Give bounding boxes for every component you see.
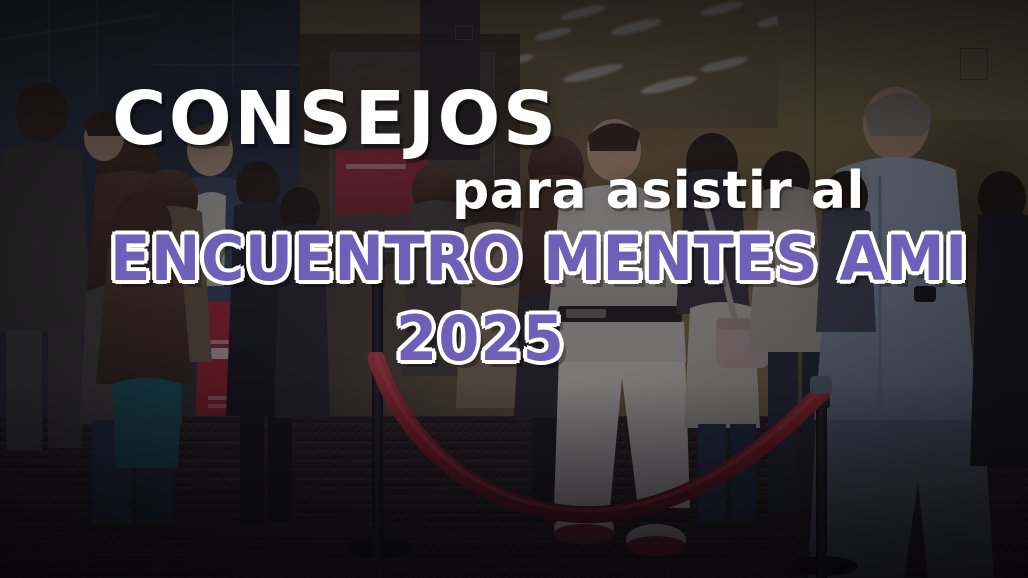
poster-canvas: CONSEJOS para asistir al ENCUENTRO MENTE… xyxy=(0,0,1028,578)
headline-line-4: 2025 xyxy=(396,306,565,371)
headline-line-2: para asistir al xyxy=(452,165,865,217)
headline-line-3: ENCUENTRO MENTES AMI xyxy=(110,226,968,291)
headline-line-1: CONSEJOS xyxy=(112,82,559,156)
logo-bar: fundación ATRESMEDIA xyxy=(0,458,1028,578)
